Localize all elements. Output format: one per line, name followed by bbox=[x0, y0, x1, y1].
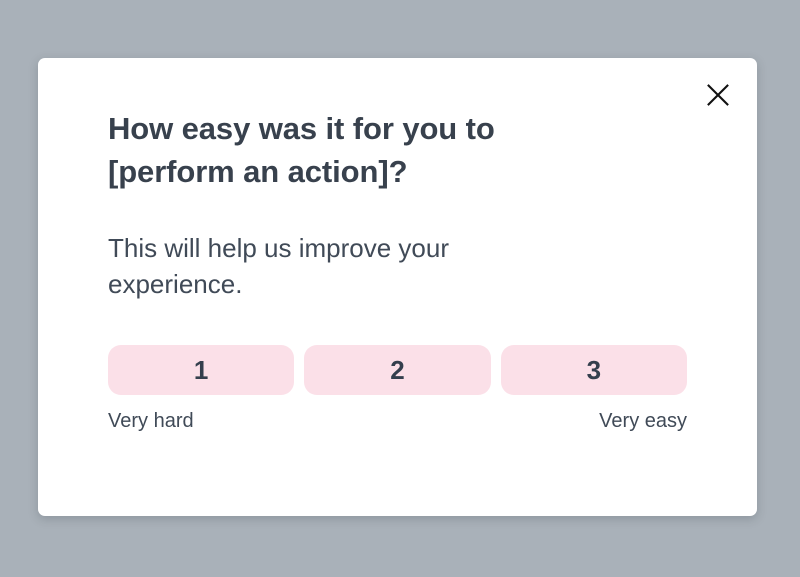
rating-scale: 1 2 3 Very hard Very easy bbox=[108, 303, 687, 433]
rating-button-group: 1 2 3 bbox=[108, 345, 687, 395]
rating-option-1[interactable]: 1 bbox=[108, 345, 294, 395]
scale-label-high: Very easy bbox=[599, 409, 687, 433]
close-icon[interactable] bbox=[701, 78, 735, 112]
dialog-subtext: This will help us improve your experienc… bbox=[108, 194, 578, 304]
scale-label-low: Very hard bbox=[108, 409, 194, 433]
rating-option-3[interactable]: 3 bbox=[501, 345, 687, 395]
feedback-survey-dialog: How easy was it for you to [perform an a… bbox=[38, 58, 757, 516]
scale-labels: Very hard Very easy bbox=[108, 395, 687, 433]
rating-option-2[interactable]: 2 bbox=[304, 345, 490, 395]
page-title: How easy was it for you to [perform an a… bbox=[108, 108, 578, 194]
dialog-content: How easy was it for you to [perform an a… bbox=[108, 108, 725, 433]
close-icon-glyph bbox=[707, 84, 729, 106]
